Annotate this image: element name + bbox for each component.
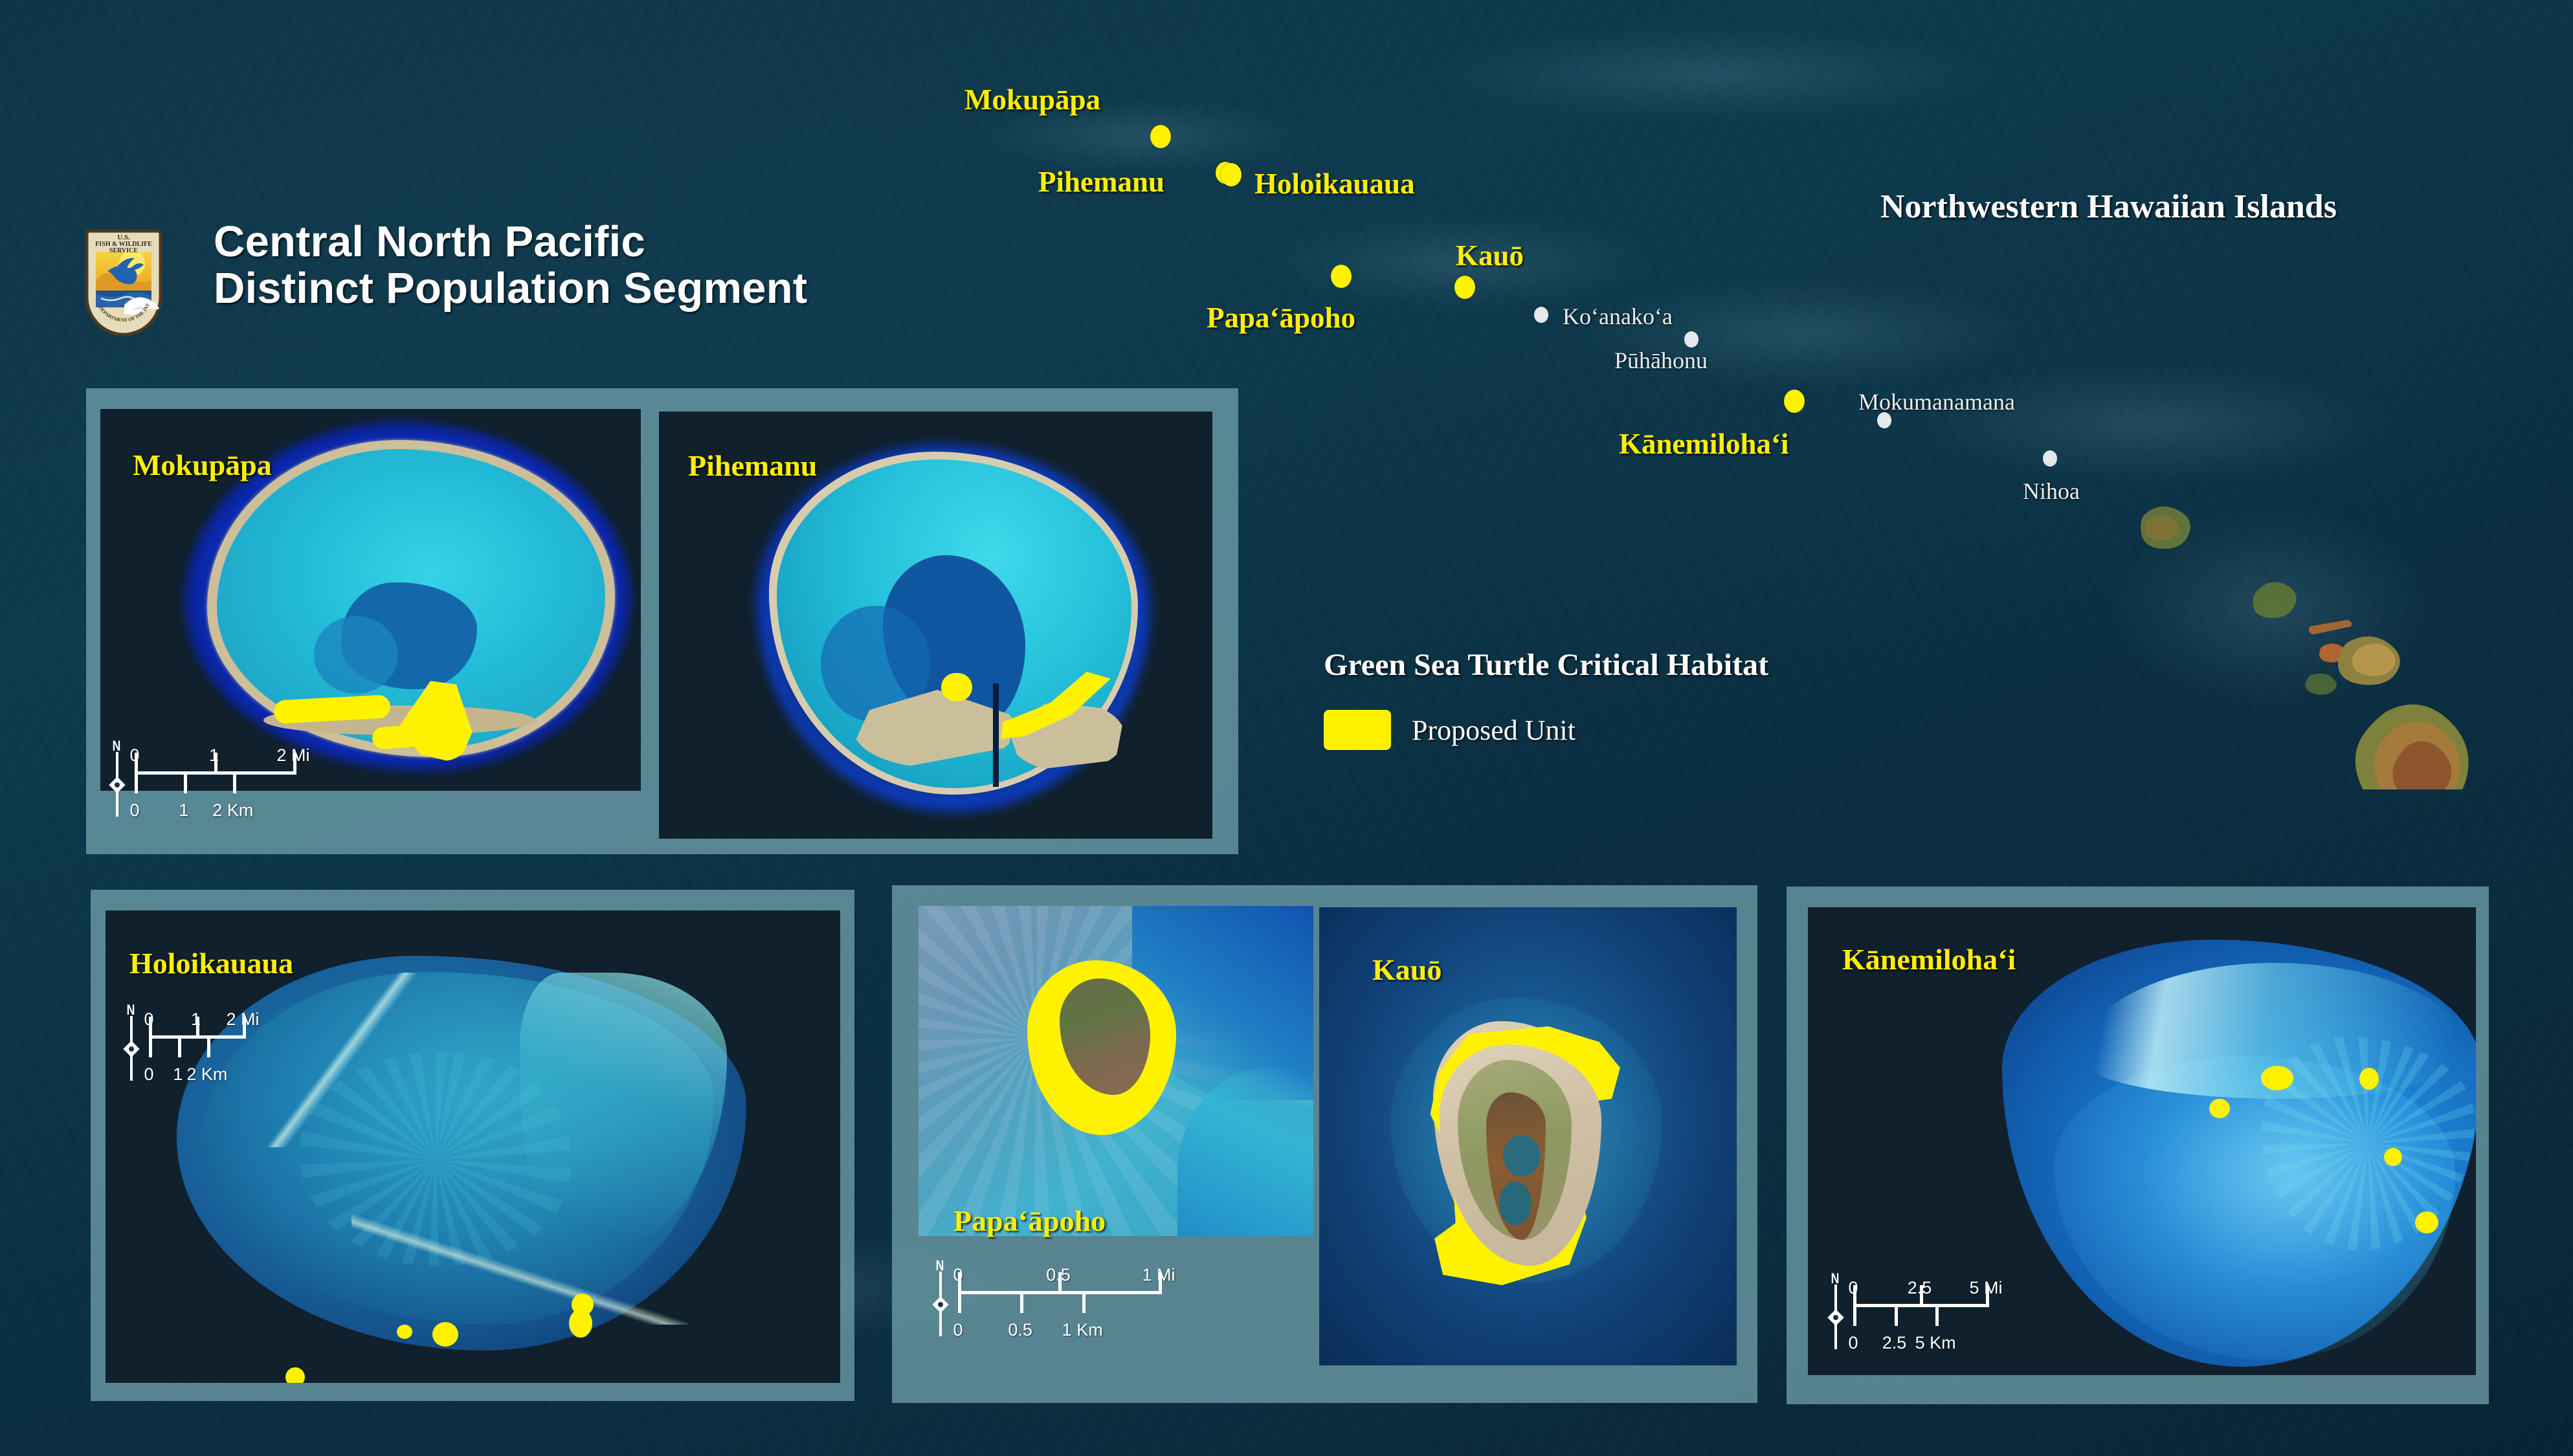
inset-label-holoikauaua: Holoikauaua <box>129 946 293 980</box>
reef-crest-line <box>214 973 499 1147</box>
scale-tick-label-km: 0 <box>1848 1333 1858 1353</box>
region-title: Northwestern Hawaiian Islands <box>1880 188 2337 226</box>
island-marker-dot <box>2043 450 2057 467</box>
scale-tick-mi <box>1058 1272 1062 1294</box>
scale-bar-line <box>149 1035 243 1039</box>
scale-bar-line <box>1853 1304 1986 1307</box>
critical-habitat-unit <box>941 673 972 701</box>
island-label: Nihoa <box>2023 478 2080 505</box>
scale-bar-papaapoho: N00.51 Mi00.51 Km <box>932 1265 1159 1342</box>
north-arrow-icon: N <box>932 1265 949 1338</box>
island-marker-dot <box>1784 390 1805 413</box>
scale-bar-mokupapa: N012 Mi012 Km <box>109 745 293 822</box>
scale-tick-km <box>1935 1304 1939 1326</box>
scale-tick-km <box>1020 1291 1023 1313</box>
scale-tick-km <box>207 1035 210 1057</box>
scale-tick-km <box>1853 1304 1856 1326</box>
lagoon-deep-patch <box>314 616 398 694</box>
scale-bar-line <box>958 1291 1159 1294</box>
title-line-1: Central North Pacific <box>214 219 807 265</box>
island-label: Mokumanamana <box>1858 388 2015 415</box>
critical-habitat-unit <box>432 1322 458 1347</box>
inset-label-kauo: Kauō <box>1372 953 1442 987</box>
inset-label-mokupapa: Mokupāpa <box>133 448 272 482</box>
scale-tick-mi <box>1159 1272 1162 1294</box>
north-arrow-icon: N <box>109 745 126 818</box>
scale-tick-mi <box>196 1017 199 1039</box>
ridge-ripple <box>2104 505 2440 712</box>
critical-habitat-unit <box>569 1309 592 1338</box>
scale-tick-mi <box>293 753 296 775</box>
island-label: Mokupāpa <box>964 83 1100 116</box>
scale-tick-km <box>184 771 187 793</box>
scale-tick-label-km: 1 <box>173 1064 183 1085</box>
scale-bar-line <box>135 771 293 775</box>
inset-label-kanemilohai: Kānemilohaʻi <box>1842 942 2016 976</box>
scale-tick-km <box>1895 1304 1898 1326</box>
lake-water <box>1503 1135 1541 1176</box>
island-marker-dot <box>1221 163 1242 186</box>
inset-image-holoikauaua <box>106 910 840 1383</box>
island-label: Pūhāhonu <box>1614 347 1708 374</box>
island-label: Kānemilohaʻi <box>1619 427 1789 461</box>
scale-tick-mi <box>243 1017 246 1039</box>
critical-habitat-unit <box>2384 1148 2402 1166</box>
seal-line3: SERVICE <box>109 247 138 254</box>
scale-tick-km <box>178 1035 181 1057</box>
lake-water <box>1499 1182 1532 1226</box>
scale-tick-label-km: 1 Km <box>1062 1320 1103 1340</box>
channel-line <box>993 683 999 787</box>
legend-item-proposed-unit: Proposed Unit <box>1324 710 1768 750</box>
page-title: Central North Pacific Distinct Populatio… <box>214 219 807 313</box>
scale-tick-km <box>233 771 236 793</box>
title-line-2: Distinct Population Segment <box>214 265 807 312</box>
critical-habitat-unit <box>2359 1068 2379 1090</box>
island-label: Papaʻāpoho <box>1207 301 1355 335</box>
scale-tick-km <box>149 1035 152 1057</box>
north-arrow-icon: N <box>123 1009 140 1082</box>
critical-habitat-unit <box>2261 1066 2293 1090</box>
island-label: Koʻanakoʻa <box>1563 303 1673 330</box>
island-marker-dot <box>1150 125 1171 148</box>
legend-title: Green Sea Turtle Critical Habitat <box>1324 647 1768 683</box>
island-label: Kauō <box>1456 239 1524 272</box>
map-canvas: U.S. FISH & WILDLIFE SERVICE DEPARTMENT … <box>0 0 2573 1456</box>
critical-habitat-unit <box>397 1325 412 1339</box>
scale-tick-mi <box>214 753 217 775</box>
scale-tick-label-km: 0.5 <box>1008 1320 1032 1340</box>
critical-habitat-unit <box>2415 1211 2438 1233</box>
scale-bar-kanemilohai: N02.55 Mi02.55 Km <box>1827 1278 1986 1355</box>
scale-tick-label-km: 1 <box>179 800 188 821</box>
island-label: Holoikauaua <box>1254 167 1415 201</box>
inset-label-papaapoho: Papaʻāpoho <box>953 1204 1106 1238</box>
scale-tick-label-km: 2.5 <box>1882 1333 1907 1353</box>
scale-tick-mi <box>1920 1285 1923 1307</box>
scale-tick-label-km: 0 <box>129 800 139 821</box>
scale-tick-label-km: 2 Km <box>212 800 253 821</box>
scale-tick-km <box>135 771 138 793</box>
legend: Green Sea Turtle Critical Habitat Propos… <box>1324 647 1768 750</box>
ridge-ripple <box>1424 26 2007 123</box>
scale-tick-label-km: 5 Km <box>1915 1333 1956 1353</box>
scale-tick-km <box>1082 1291 1086 1313</box>
ridge-ripple <box>1910 362 2395 485</box>
critical-habitat-unit <box>285 1367 305 1383</box>
island-marker-dot <box>1454 276 1475 299</box>
inset-label-pihemanu: Pihemanu <box>688 448 817 483</box>
scale-bar-holoikauaua: N012 Mi012 Km <box>123 1009 243 1086</box>
scale-tick-label-km: 2 Km <box>186 1064 227 1085</box>
main-hawaiian-islands <box>2104 453 2570 789</box>
legend-label-proposed-unit: Proposed Unit <box>1412 714 1576 747</box>
island-label: Pihemanu <box>1038 165 1164 199</box>
scale-tick-km <box>958 1291 961 1313</box>
legend-swatch-proposed-unit <box>1324 710 1391 750</box>
island-marker-dot <box>1331 265 1352 288</box>
island-marker-dot <box>1684 331 1699 347</box>
reef-crest-line <box>351 1215 688 1325</box>
critical-habitat-unit <box>2209 1099 2230 1118</box>
scale-tick-label-km: 0 <box>953 1320 963 1340</box>
scale-tick-mi <box>1986 1285 1989 1307</box>
scale-tick-label-km: 0 <box>144 1064 153 1085</box>
north-arrow-icon: N <box>1827 1278 1844 1351</box>
usfws-seal-logo: U.S. FISH & WILDLIFE SERVICE DEPARTMENT … <box>84 228 163 337</box>
island-marker-dot <box>1534 307 1548 323</box>
inset-image-papaapoho <box>919 906 1313 1236</box>
